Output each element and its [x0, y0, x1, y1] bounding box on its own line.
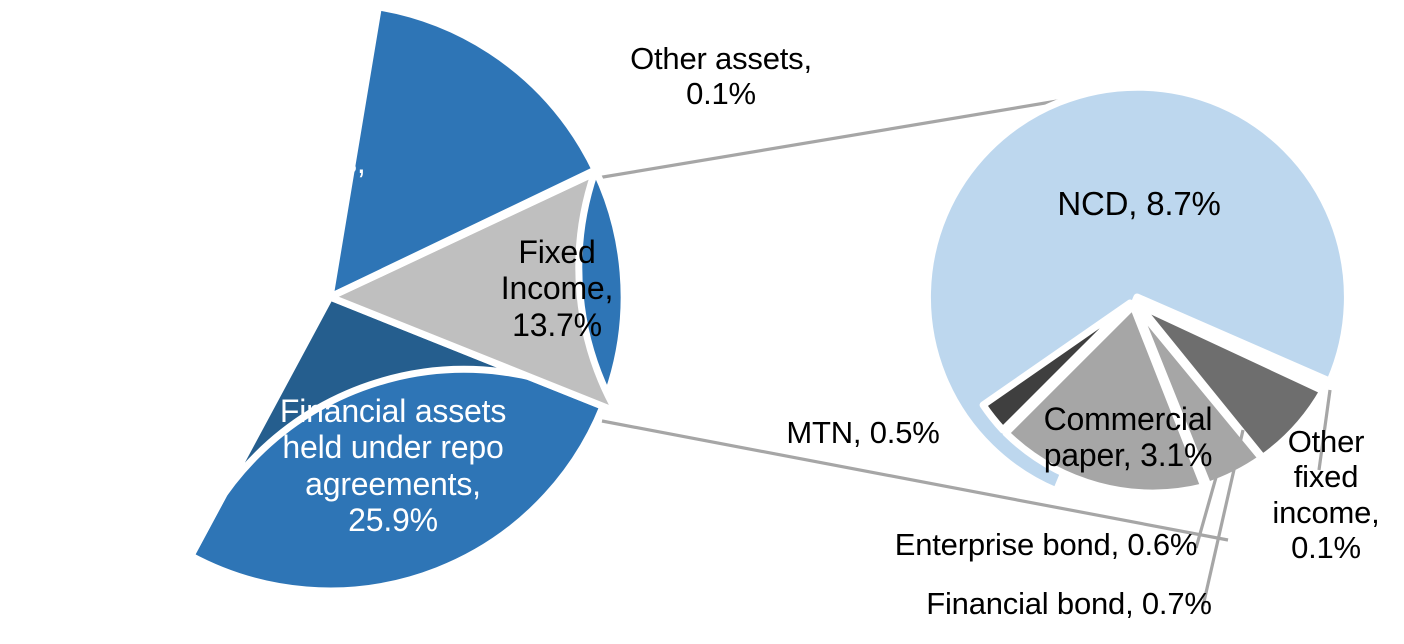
- label-ncd: NCD, 8.7%: [1031, 185, 1247, 223]
- label-commercial-paper: Commercial paper, 3.1%: [1024, 401, 1232, 474]
- label-other-fixed-income: Other fixed income, 0.1%: [1256, 424, 1396, 565]
- label-repo-agreements: Financial assets held under repo agreeme…: [258, 393, 528, 539]
- label-other-assets: Other assets, 0.1%: [607, 41, 835, 112]
- label-enterprise-bond: Enterprise bond, 0.6%: [871, 527, 1221, 562]
- label-bank-deposits: Bank deposits, 60.3%: [138, 144, 386, 217]
- label-fixed-income: Fixed Income, 13.7%: [477, 234, 637, 343]
- label-financial-bond: Financial bond, 0.7%: [899, 586, 1239, 621]
- label-mtn: MTN, 0.5%: [768, 415, 958, 450]
- pie-of-pie-chart: Bank deposits, 60.3% Financial assets he…: [0, 0, 1404, 644]
